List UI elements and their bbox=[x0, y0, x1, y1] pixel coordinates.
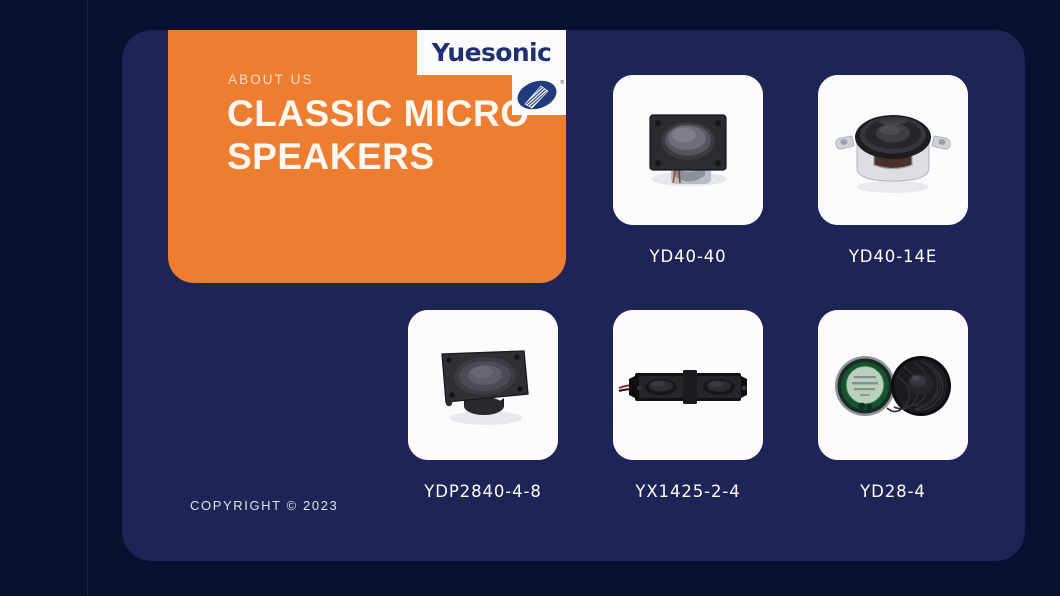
product-label-1: YD40-14E bbox=[818, 247, 968, 266]
product-item-1[interactable]: YD40-14E bbox=[818, 75, 968, 225]
product-image-rectangular-black-micro-speaker bbox=[613, 75, 763, 225]
product-image-dual-speaker-bar-module bbox=[613, 310, 763, 460]
product-label-2: YDP2840-4-8 bbox=[408, 482, 558, 501]
product-image-pair-of-round-mini-speakers bbox=[818, 310, 968, 460]
product-item-3[interactable]: YX1425-2-4 bbox=[613, 310, 763, 460]
logo-wordmark: Yuesonic bbox=[432, 40, 551, 65]
slide-card: ABOUT US CLASSIC MICRO SPEAKERS Yuesonic bbox=[122, 30, 1025, 561]
product-image-round-chrome-basket-speaker bbox=[818, 75, 968, 225]
brand-logo: Yuesonic ® bbox=[417, 30, 566, 115]
logo-mark-box: ® bbox=[512, 75, 566, 115]
product-label-4: YD28-4 bbox=[818, 482, 968, 501]
product-item-4[interactable]: YD28-4 bbox=[818, 310, 968, 460]
hero-eyebrow: ABOUT US bbox=[228, 72, 314, 87]
product-label-0: YD40-40 bbox=[613, 247, 763, 266]
yuesonic-ellipse-stripes-icon bbox=[514, 77, 560, 113]
copyright-text: COPYRIGHT © 2023 bbox=[190, 498, 338, 513]
registered-trademark-icon: ® bbox=[560, 80, 564, 86]
left-edge-divider bbox=[87, 0, 88, 596]
product-item-0[interactable]: YD40-40 bbox=[613, 75, 763, 225]
logo-wordmark-box: Yuesonic bbox=[417, 30, 566, 75]
product-item-2[interactable]: YDP2840-4-8 bbox=[408, 310, 558, 460]
product-image-rectangular-angled-black-speaker bbox=[408, 310, 558, 460]
product-label-3: YX1425-2-4 bbox=[613, 482, 763, 501]
